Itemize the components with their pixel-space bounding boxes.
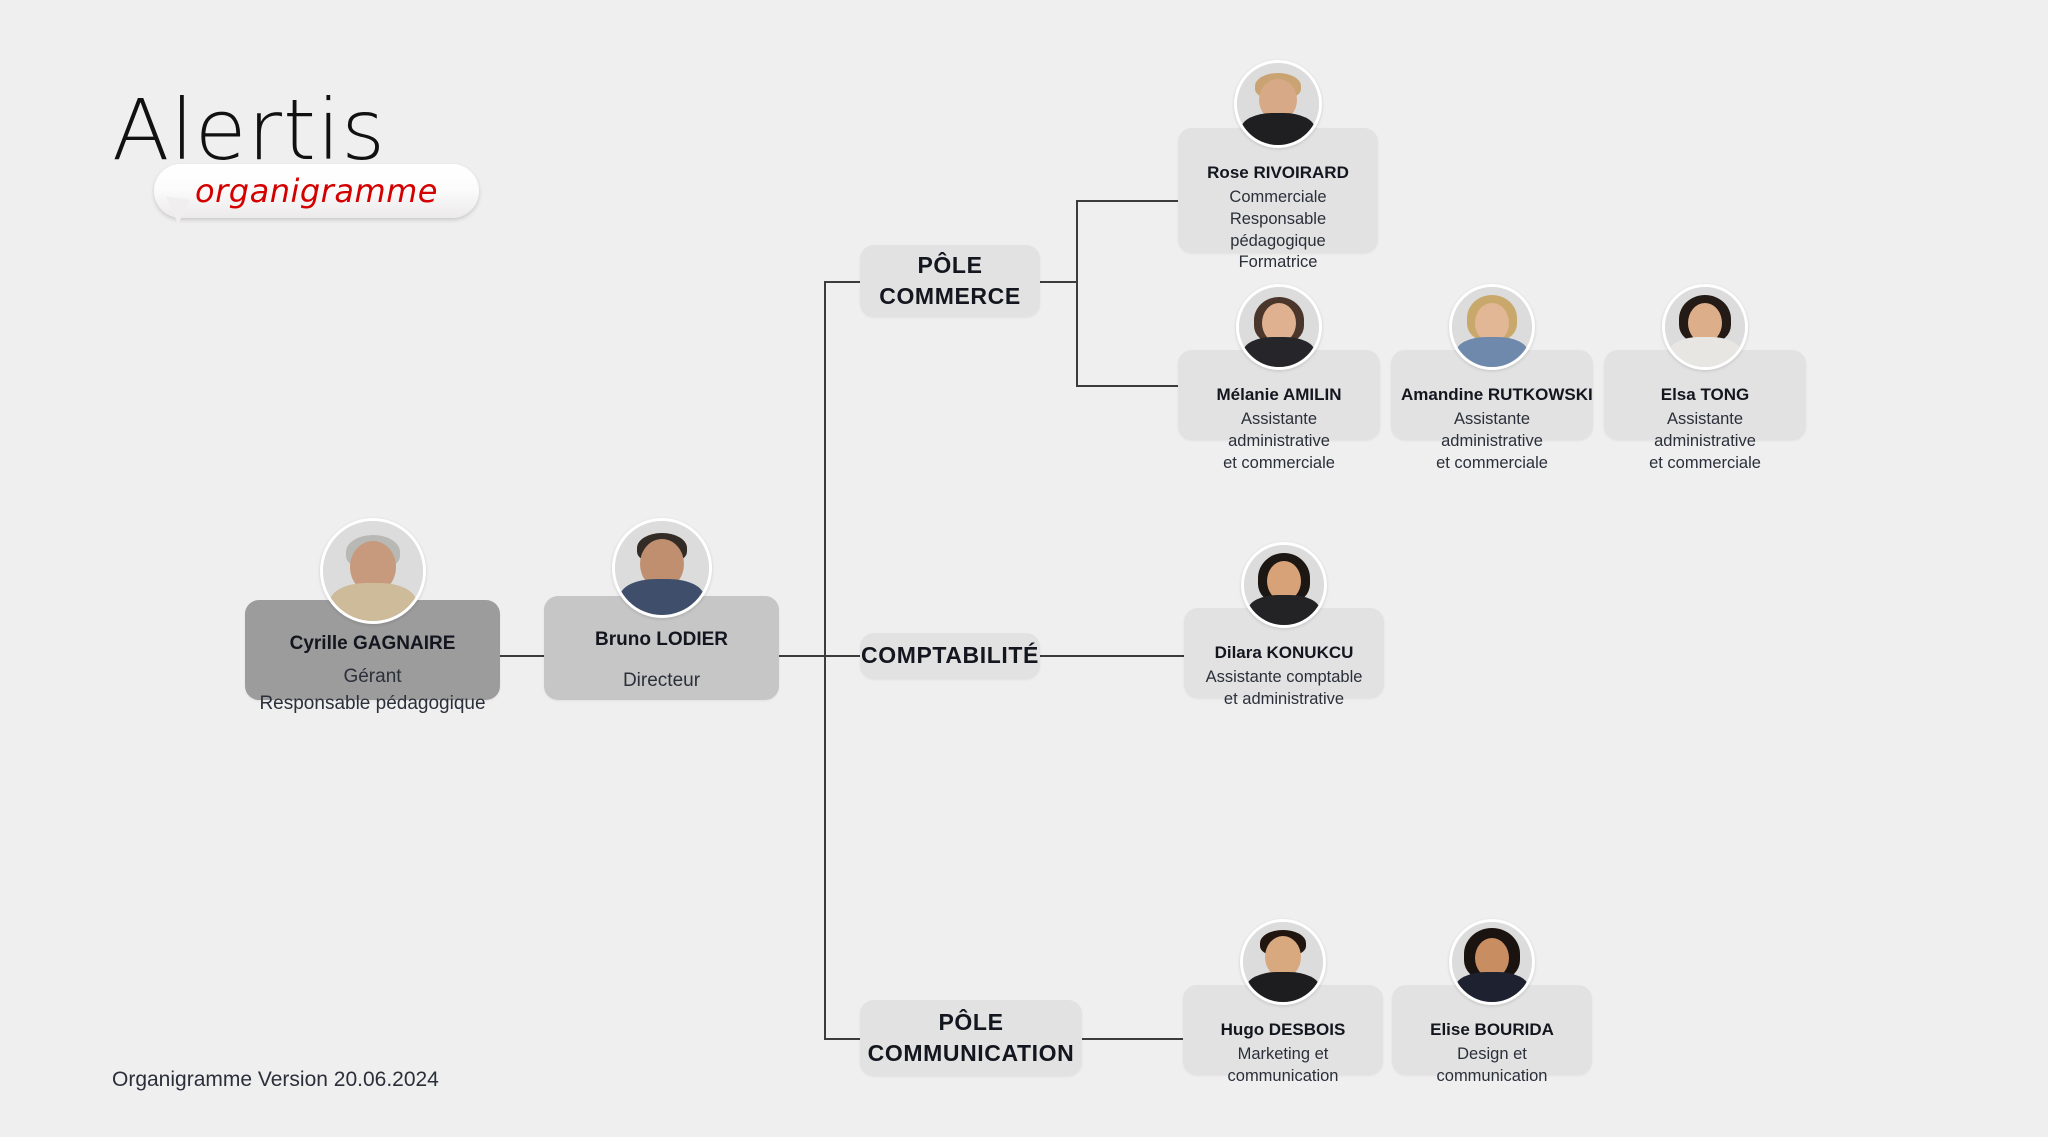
connector-main-trunk: [824, 281, 826, 1040]
speech-bubble-tail-icon: [162, 196, 189, 225]
avatar-bruno-lodier: [612, 518, 712, 618]
person-name: Cyrille GAGNAIRE: [255, 632, 490, 657]
person-role-line-1: Assistante administrative: [1401, 409, 1583, 453]
person-name: Elise BOURIDA: [1402, 1019, 1582, 1041]
person-role-line-1: Directeur: [554, 667, 769, 695]
person-role-line-3: pédagogique: [1188, 231, 1368, 253]
avatar-rose-rivoirard: [1234, 60, 1322, 148]
person-role-line-4: Formatrice: [1188, 252, 1368, 274]
department-label-line-2: COMMUNICATION: [868, 1038, 1075, 1069]
avatar-elsa-tong: [1662, 284, 1748, 370]
avatar-melanie-amilin: [1236, 284, 1322, 370]
department-label-line-1: PÔLE: [917, 250, 982, 281]
logo-speech-bubble: organigramme: [154, 164, 479, 218]
person-card-melanie-amilin[interactable]: Mélanie AMILIN Assistante administrative…: [1178, 350, 1380, 440]
company-logo: Alertis organigramme: [112, 88, 592, 258]
department-box-pole-communication[interactable]: PÔLE COMMUNICATION: [860, 1000, 1082, 1076]
person-name: Rose RIVOIRARD: [1188, 162, 1368, 184]
department-label-line-1: COMPTABILITÉ: [861, 640, 1039, 671]
logo-tagline: organigramme: [195, 172, 438, 210]
person-role-line-2: Responsable: [1188, 209, 1368, 231]
department-box-comptabilite[interactable]: COMPTABILITÉ: [860, 633, 1040, 679]
connector-pole-commerce-stub: [1040, 281, 1078, 283]
person-card-elsa-tong[interactable]: Elsa TONG Assistante administrative et c…: [1604, 350, 1806, 440]
person-role-line-2: Responsable pédagogique: [255, 690, 490, 718]
avatar-dilara-konukcu: [1241, 542, 1327, 628]
person-role-line-1: Marketing et: [1193, 1044, 1373, 1066]
connector-trunk-pole-commerce: [824, 281, 860, 283]
person-role-line-1: Commerciale: [1188, 187, 1368, 209]
avatar-elise-bourida: [1449, 919, 1535, 1005]
person-card-bruno-lodier[interactable]: Bruno LODIER Directeur: [544, 596, 779, 700]
person-role-line-2: communication: [1193, 1066, 1373, 1088]
person-role-line-1: Assistante administrative: [1614, 409, 1796, 453]
person-name: Hugo DESBOIS: [1193, 1019, 1373, 1041]
person-name: Amandine RUTKOWSKI: [1401, 384, 1583, 406]
organigramme-canvas: Alertis organigramme Cyrille GAGNAIRE: [0, 0, 2048, 1137]
connector-commerce-branch-bus: [1076, 200, 1078, 387]
connector-communication-to-team: [1073, 1038, 1183, 1040]
person-card-hugo-desbois[interactable]: Hugo DESBOIS Marketing et communication: [1183, 985, 1383, 1075]
person-role-line-2: et commerciale: [1401, 453, 1583, 475]
person-name: Bruno LODIER: [554, 628, 769, 653]
connector-bruno-trunk: [778, 655, 826, 657]
person-role-line-1: Assistante administrative: [1188, 409, 1370, 453]
version-label: Organigramme Version 20.06.2024: [112, 1068, 439, 1092]
connector-comptabilite-to-dilara: [1040, 655, 1186, 657]
connector-cyrille-bruno: [500, 655, 548, 657]
logo-wordmark: Alertis: [112, 88, 592, 172]
department-label-line-1: PÔLE: [938, 1007, 1003, 1038]
person-name: Dilara KONUKCU: [1194, 642, 1374, 664]
person-role-line-1: Design et: [1402, 1044, 1582, 1066]
avatar-amandine-rutkowski: [1449, 284, 1535, 370]
person-name: Elsa TONG: [1614, 384, 1796, 406]
department-label-line-2: COMMERCE: [879, 281, 1021, 312]
person-card-cyrille-gagnaire[interactable]: Cyrille GAGNAIRE Gérant Responsable péda…: [245, 600, 500, 700]
person-card-amandine-rutkowski[interactable]: Amandine RUTKOWSKI Assistante administra…: [1391, 350, 1593, 440]
person-name: Mélanie AMILIN: [1188, 384, 1370, 406]
person-card-elise-bourida[interactable]: Elise BOURIDA Design et communication: [1392, 985, 1592, 1075]
connector-commerce-to-rose: [1076, 200, 1186, 202]
connector-trunk-comptabilite: [824, 655, 860, 657]
avatar-cyrille-gagnaire: [320, 518, 426, 624]
person-role-line-2: communication: [1402, 1066, 1582, 1088]
person-role-line-1: Gérant: [255, 663, 490, 691]
person-card-rose-rivoirard[interactable]: Rose RIVOIRARD Commerciale Responsable p…: [1178, 128, 1378, 253]
avatar-hugo-desbois: [1240, 919, 1326, 1005]
person-role-line-2: et commerciale: [1614, 453, 1796, 475]
connector-commerce-to-assistants: [1076, 385, 1186, 387]
person-role-line-2: et commerciale: [1188, 453, 1370, 475]
person-card-dilara-konukcu[interactable]: Dilara KONUKCU Assistante comptable et a…: [1184, 608, 1384, 698]
connector-trunk-pole-communication: [824, 1038, 860, 1040]
person-role-line-2: et administrative: [1194, 689, 1374, 711]
department-box-pole-commerce[interactable]: PÔLE COMMERCE: [860, 245, 1040, 317]
person-role-line-1: Assistante comptable: [1194, 667, 1374, 689]
